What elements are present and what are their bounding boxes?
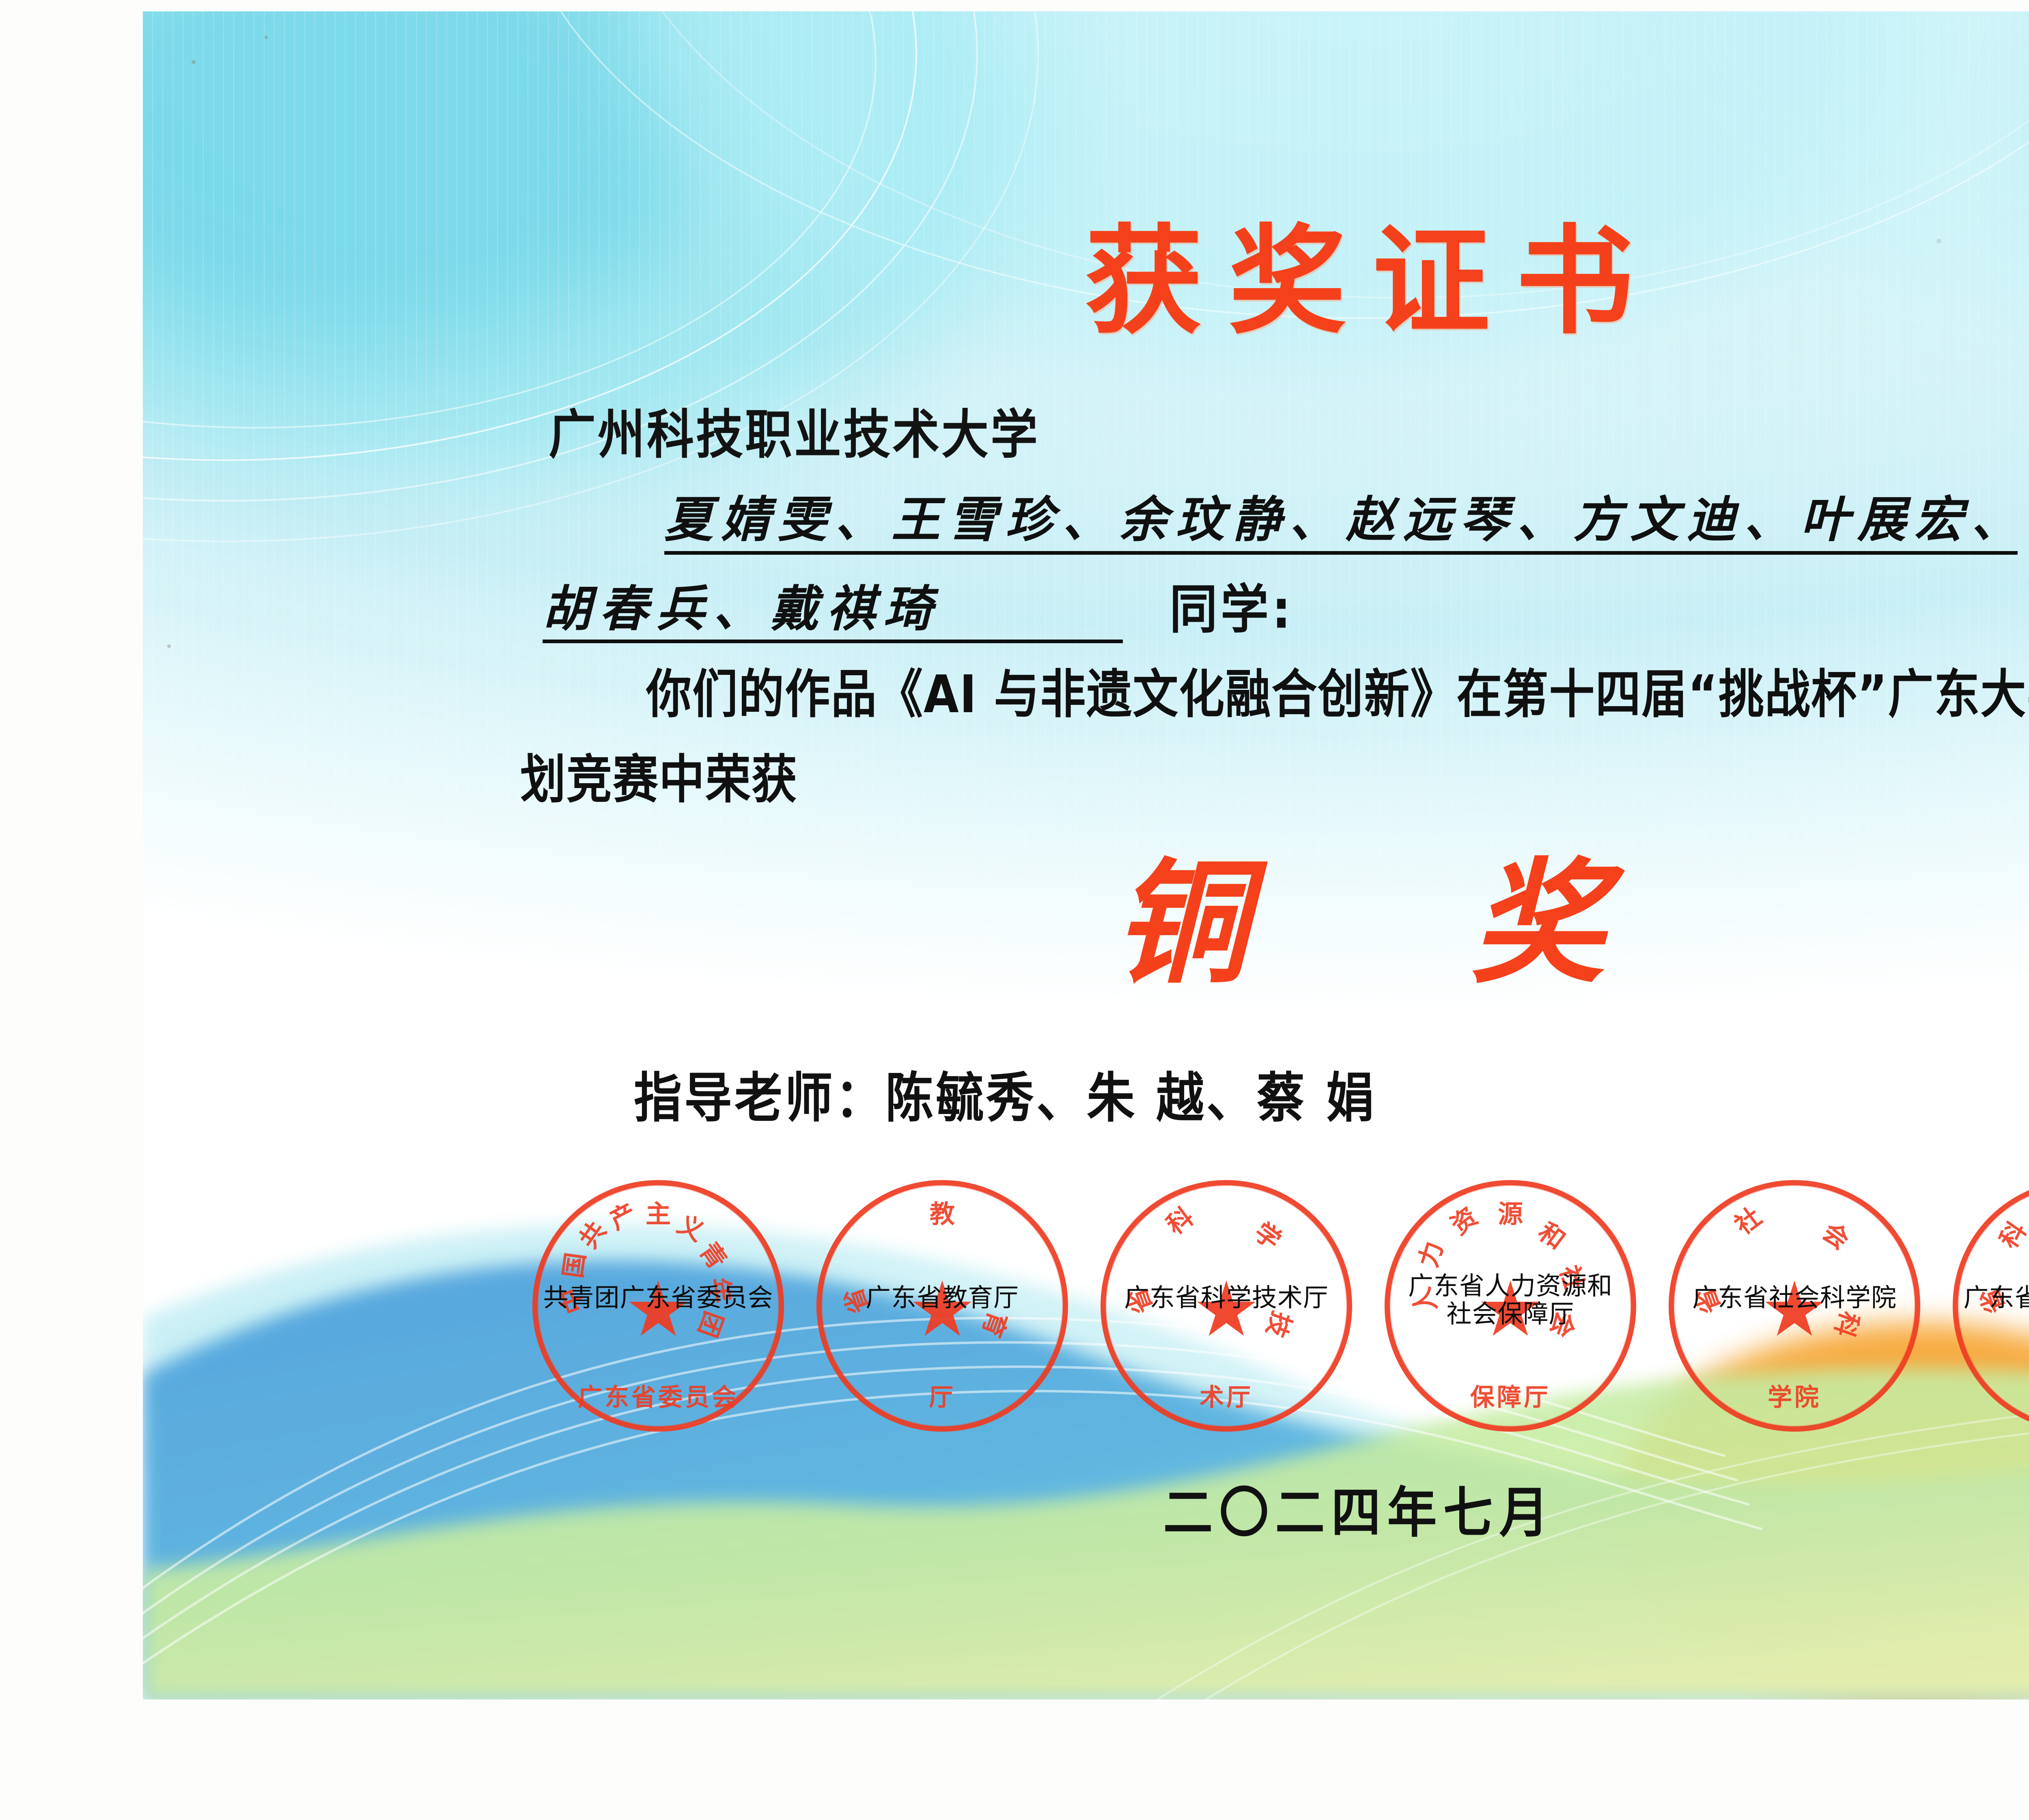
salutation: 同学: [1170,566,1294,643]
official-seals-row: 中国共产主义青年团广东省委员会共青团广东省委员会省教育厅广东省教育厅省科学技术厅… [143,1180,2029,1448]
student-names-underline-2 [543,640,1123,643]
seal-bottom-text: 厅 [816,1378,1068,1413]
official-seal: 省教育厅广东省教育厅 [816,1180,1068,1432]
seal-bottom-text: 广东省委员会 [532,1378,784,1413]
scan-speck [265,36,268,39]
seal-bottom-text: 术厅 [1101,1378,1352,1413]
seal-label: 广东省人力资源和 社会保障厅 [1360,1272,1661,1328]
official-seal: 省科学技术厅广东省科学技术厅 [1101,1180,1352,1432]
seal-label: 广东省科学技术协会 [1928,1284,2029,1312]
award-level: 铜 奖 [143,815,2029,1009]
page-title: 获奖证书 [143,186,2029,356]
seal-bottom-text: 协会 [1953,1378,2029,1413]
scan-speck [192,60,196,64]
certificate-page: 获奖证书 广州科技职业技术大学 夏婧雯、王雪珍、余玟静、赵远琴、方文迪、叶展宏、… [0,0,2029,1820]
official-seal: 中国共产主义青年团广东省委员会共青团广东省委员会 [532,1180,784,1432]
official-seal: 人力资源和社会保障厅广东省人力资源和 社会保障厅 [1385,1180,1636,1432]
seal-label: 广东省科学技术厅 [1076,1284,1376,1312]
scan-speck [167,644,171,648]
scan-speck [1936,239,1941,243]
official-seal: 省科学技术协会广东省科学技术协会 [1953,1180,2029,1432]
student-names-line-1: 夏婧雯、王雪珍、余玟静、赵远琴、方文迪、叶展宏、区嘉昊、黄语嫣、 [664,480,2029,551]
seal-label: 广东省社会科学院 [1644,1284,1945,1312]
body-text-line-1: 你们的作品《AI 与非遗文化融合创新》在第十四届“挑战杯”广东大学生创业计 [646,653,2029,728]
student-names-underline-1 [664,551,2018,555]
recipient-institution: 广州科技职业技术大学 [549,392,1040,468]
official-seal: 省社会科学院广东省社会科学院 [1669,1180,1920,1432]
mentor-list: 指导老师：陈毓秀、朱 越、蔡 娟 [634,1054,1376,1132]
seal-bottom-text: 保障厅 [1385,1378,1636,1413]
body-text-line-2: 划竞赛中荣获 [520,738,798,813]
certificate-sheet: 获奖证书 广州科技职业技术大学 夏婧雯、王雪珍、余玟静、赵远琴、方文迪、叶展宏、… [143,11,2029,1699]
student-names-line-2: 胡春兵、戴祺琦 [543,569,940,640]
seal-label: 共青团广东省委员会 [508,1284,808,1312]
seal-bottom-text: 学院 [1669,1378,1920,1413]
issue-date: 二〇二四年七月 [143,1469,2029,1548]
seal-label: 广东省教育厅 [792,1284,1092,1312]
